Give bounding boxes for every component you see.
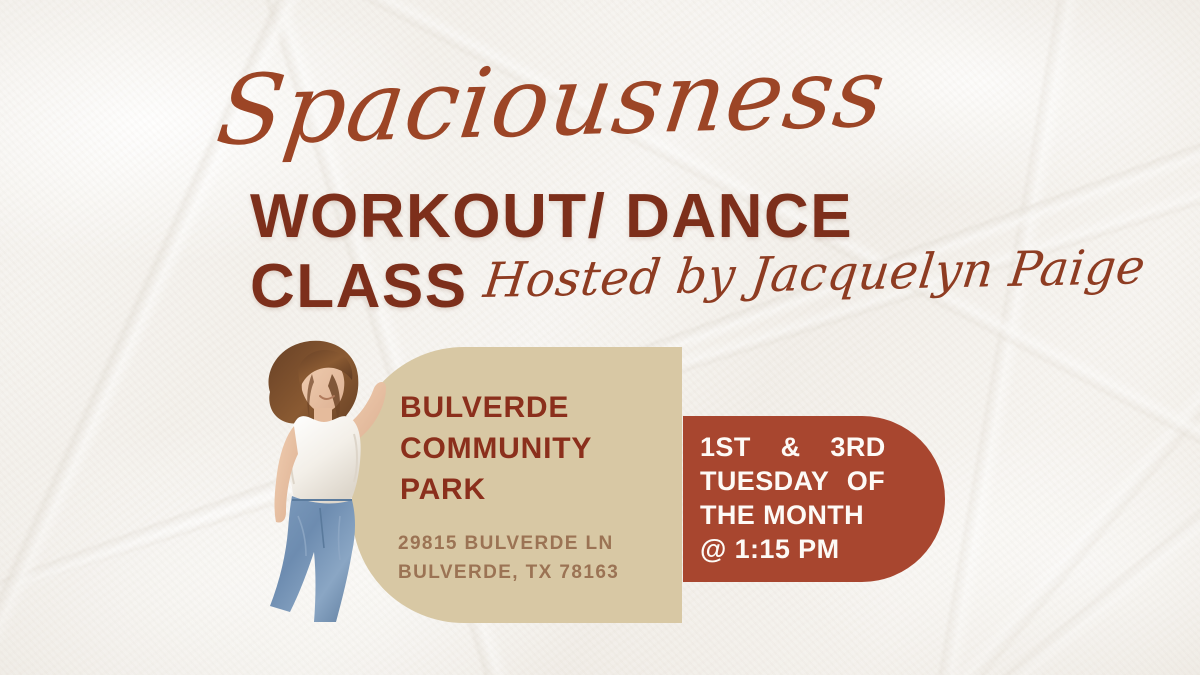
venue-address-line-2: BULVERDE, TX 78163 (398, 558, 674, 587)
schedule-line-4: @ 1:15 PM (700, 532, 930, 566)
schedule-line-2: TUESDAY OF (700, 464, 930, 498)
venue-name-line-3: PARK (400, 469, 670, 510)
venue-address: 29815 BULVERDE LN BULVERDE, TX 78163 (398, 529, 674, 587)
venue-name-line-1: BULVERDE (400, 387, 670, 428)
schedule-text: 1ST & 3RD TUESDAY OF THE MONTH @ 1:15 PM (700, 430, 930, 566)
venue-name: BULVERDE COMMUNITY PARK (400, 387, 670, 510)
schedule-line-3: THE MONTH (700, 498, 930, 532)
script-title: Spaciousness (210, 31, 986, 175)
event-flyer: Spaciousness WORKOUT/ DANCE CLASS Hosted… (0, 0, 1200, 675)
venue-name-line-2: COMMUNITY (400, 428, 670, 469)
schedule-line-1: 1ST & 3RD (700, 430, 930, 464)
headline-line-2: CLASS (250, 252, 468, 322)
dancing-woman-photo (228, 330, 418, 630)
venue-address-line-1: 29815 BULVERDE LN (398, 529, 674, 558)
host-script-text: Hosted by Jacquelyn Paige (480, 234, 1149, 314)
